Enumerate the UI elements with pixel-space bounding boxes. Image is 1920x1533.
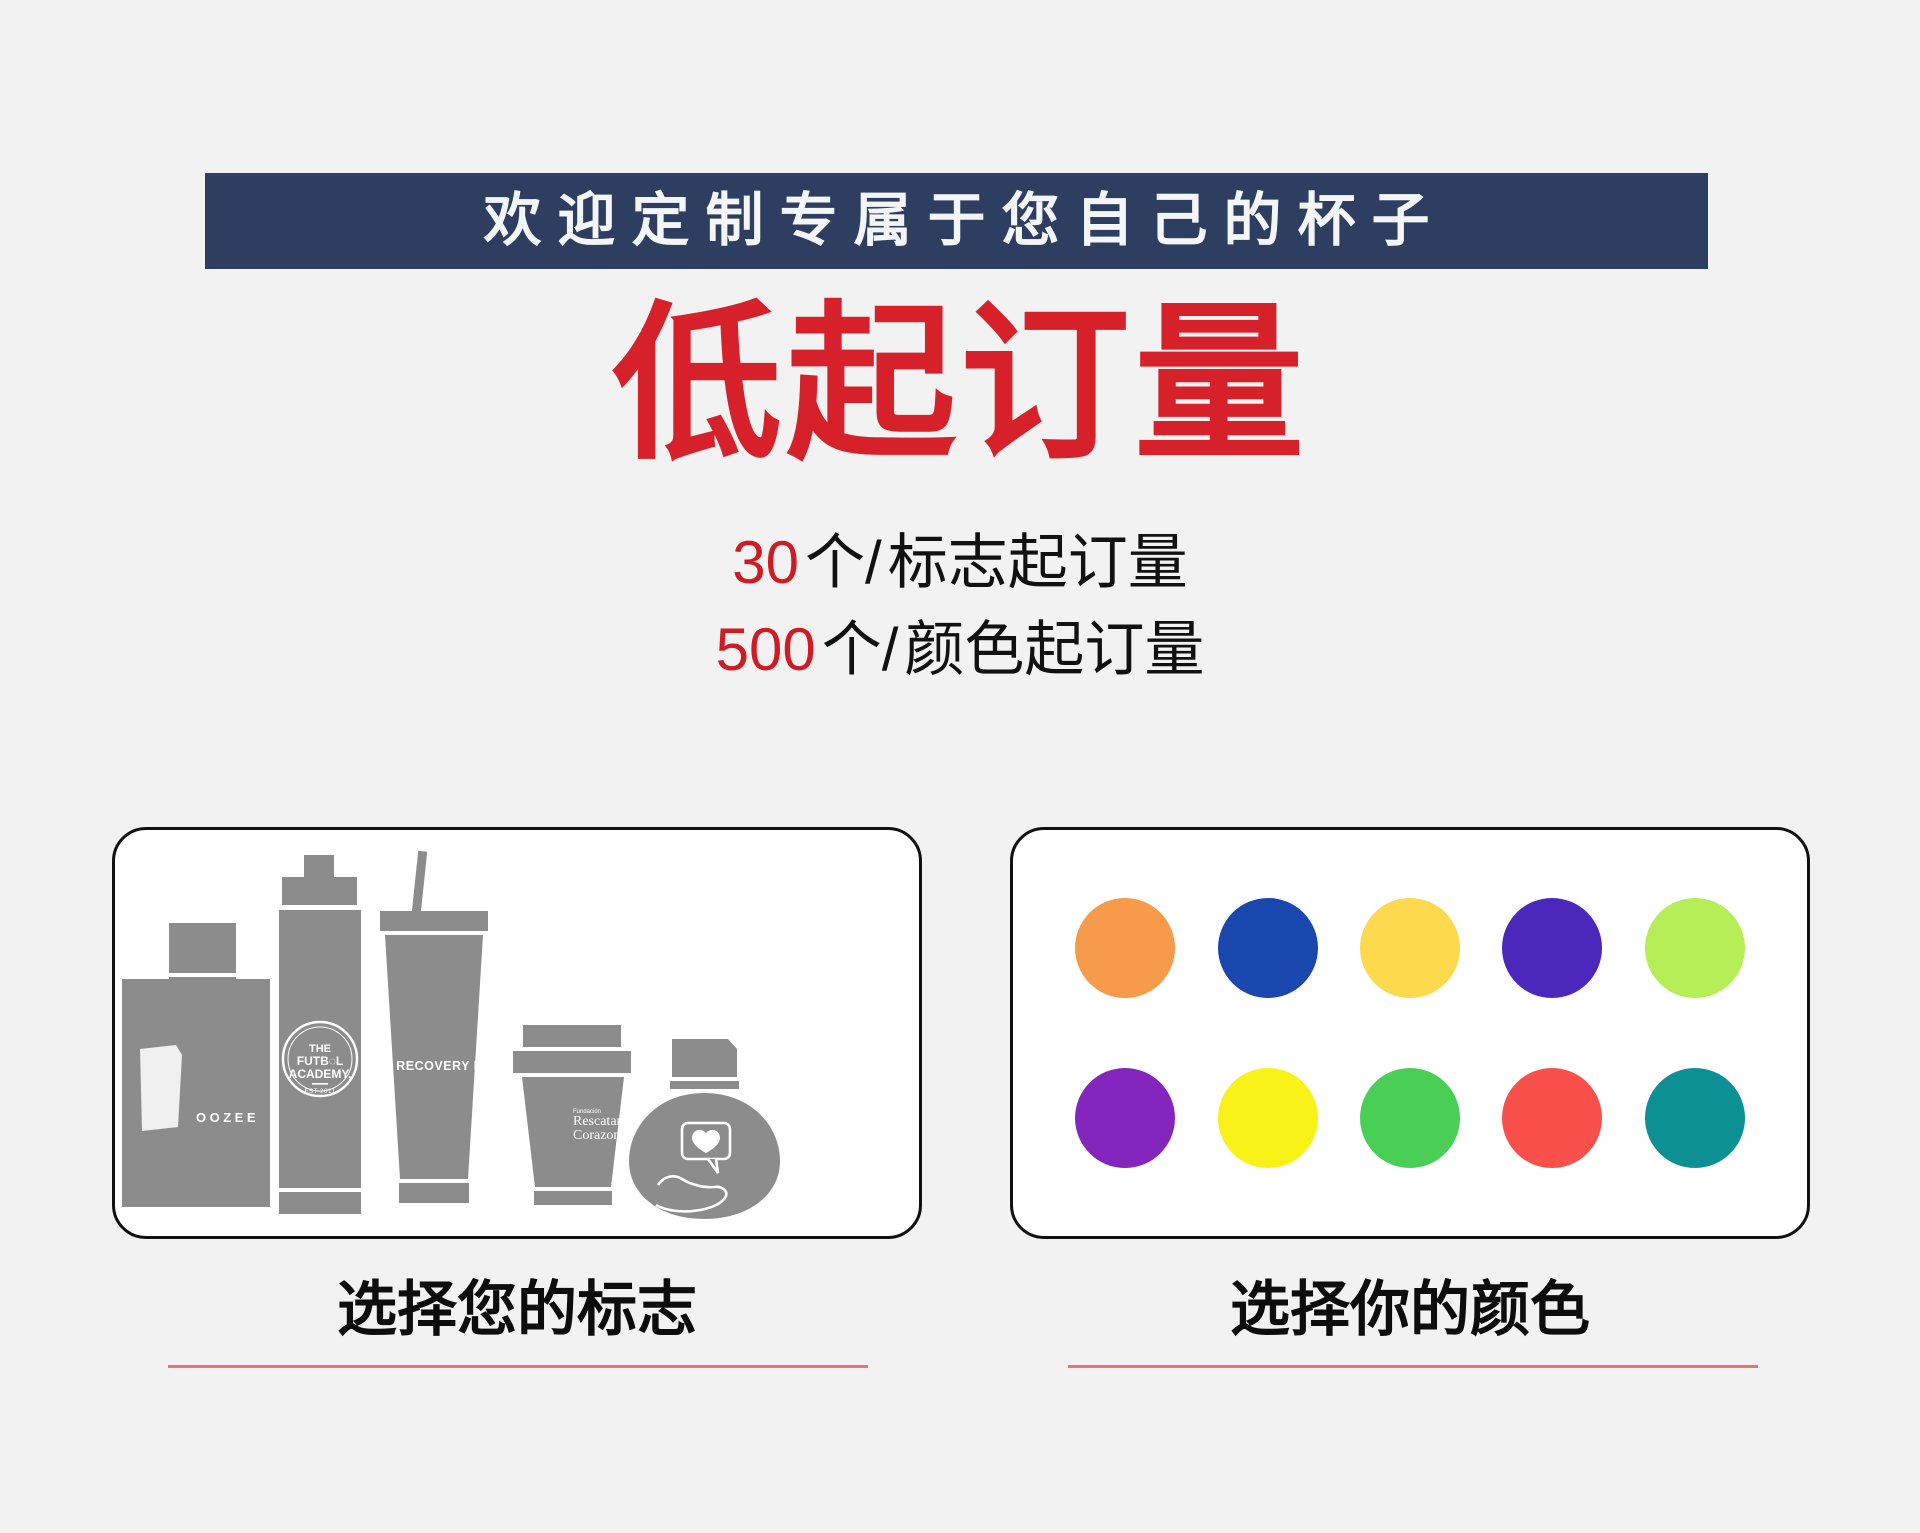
- color-swatch-violet[interactable]: [1502, 898, 1602, 998]
- svg-text:Corazones: Corazones: [573, 1128, 632, 1143]
- subtitle-logo-moq-label: 标志起订量: [888, 529, 1188, 596]
- product-coffee-cup: Fundación Rescatando Corazones: [513, 1025, 638, 1205]
- subtitle-logo-moq-unit: 个/: [805, 529, 882, 596]
- subtitle-color-moq-number: 500: [716, 616, 816, 683]
- subtitle-line-logo-moq: 30个/标志起订量: [0, 533, 1920, 593]
- color-swatch-coral-red[interactable]: [1502, 1068, 1602, 1168]
- subtitle-line-color-moq: 500个/颜色起订量: [0, 620, 1920, 680]
- color-panel-caption: 选择你的颜色: [1010, 1280, 1810, 1340]
- welcome-banner: 欢迎定制专属于您自己的杯子: [205, 173, 1708, 269]
- logo-panel-caption: 选择您的标志: [112, 1280, 922, 1340]
- welcome-banner-title: 欢迎定制专属于您自己的杯子: [467, 192, 1445, 250]
- product-bottle-logo-text: ACADEMY,: [289, 1067, 352, 1081]
- product-flask-logo-text: OOZEE: [196, 1110, 259, 1125]
- subtitle-color-moq-label: 颜色起订量: [904, 616, 1204, 683]
- logo-panel-underline: [168, 1365, 868, 1368]
- product-tumbler-with-straw: THE RECOVERY HUB: [366, 851, 503, 1203]
- color-swatch-teal[interactable]: [1645, 1068, 1745, 1168]
- product-cup-logo-text: Rescatando: [573, 1114, 638, 1129]
- product-shaker-jar: [629, 1039, 780, 1219]
- color-swatch-orange[interactable]: [1075, 898, 1175, 998]
- svg-text:EST 2011: EST 2011: [305, 1089, 336, 1095]
- color-swatch-green[interactable]: [1360, 1068, 1460, 1168]
- product-tumbler-logo-text: THE RECOVERY HUB: [366, 1059, 503, 1073]
- color-swatch-royal-blue[interactable]: [1218, 898, 1318, 998]
- color-swatch-lime-green[interactable]: [1645, 898, 1745, 998]
- color-swatch-purple[interactable]: [1075, 1068, 1175, 1168]
- page-headline: 低起订量: [0, 300, 1920, 470]
- subtitle-logo-moq-number: 30: [732, 529, 799, 596]
- subtitle-color-moq-unit: 个/: [822, 616, 899, 683]
- color-swatch-bright-yellow[interactable]: [1218, 1068, 1318, 1168]
- color-swatch-golden-yellow[interactable]: [1360, 898, 1460, 998]
- product-tall-sport-bottle: THE FUTB◌L ACADEMY, EST 2011: [279, 855, 361, 1214]
- svg-text:FUTB◌L: FUTB◌L: [297, 1054, 343, 1068]
- product-silhouettes-group: OOZEE THE FUTB◌L ACADEMY, EST 2011: [112, 827, 922, 1239]
- product-flask-bottle: OOZEE: [122, 923, 270, 1207]
- color-panel-underline: [1068, 1365, 1758, 1368]
- color-swatch-grid: [1010, 827, 1810, 1239]
